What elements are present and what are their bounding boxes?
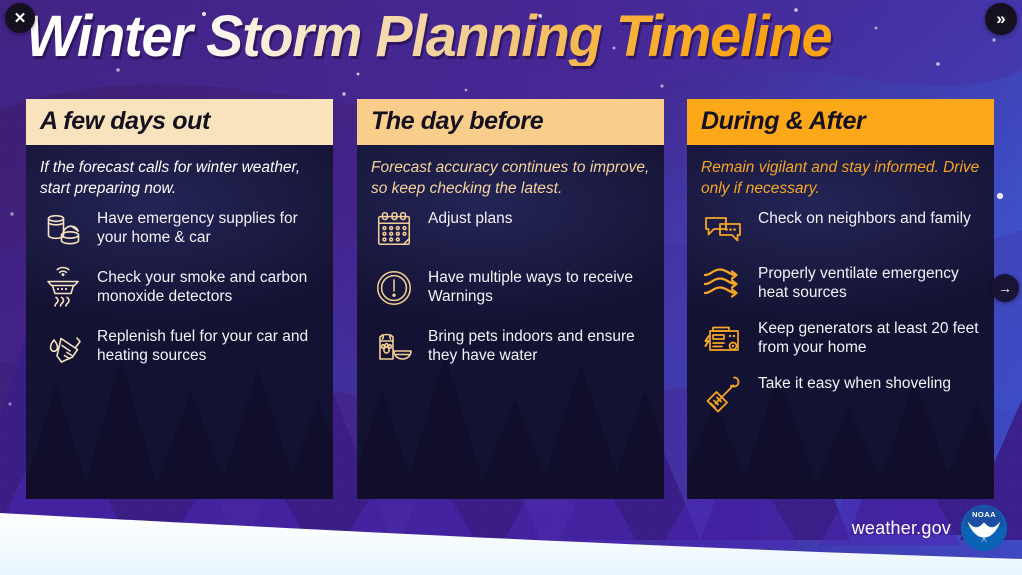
panel-items-0: Have emergency supplies for your home & …	[40, 206, 321, 370]
close-icon[interactable]: ✕	[5, 3, 35, 33]
expand-chevron-icon[interactable]: »	[985, 3, 1017, 35]
next-arrow-icon[interactable]: →	[991, 274, 1019, 302]
list-item: Properly ventilate emergency heat source…	[701, 261, 982, 307]
list-item-label: Properly ventilate emergency heat source…	[758, 261, 982, 302]
snow-shovel-icon	[701, 371, 747, 417]
weather-gov-link[interactable]: weather.gov	[852, 518, 951, 539]
list-item-label: Have emergency supplies for your home & …	[97, 206, 321, 247]
chat-bubbles-icon	[701, 206, 747, 252]
list-item: Adjust plans	[371, 206, 652, 252]
fuel-pump-icon	[40, 324, 86, 370]
panel-header-2: During & After	[687, 99, 994, 145]
list-item: Take it easy when shoveling	[701, 371, 982, 417]
list-item-label: Keep generators at least 20 feet from yo…	[758, 316, 982, 357]
panel-intro-0: If the forecast calls for winter weather…	[40, 158, 321, 200]
panel-body-2: Remain vigilant and stay informed. Drive…	[687, 145, 994, 499]
list-item-label: Bring pets indoors and ensure they have …	[428, 324, 652, 365]
noaa-logo: NOAA	[960, 504, 1008, 552]
list-item: Check your smoke and carbon monoxide det…	[40, 265, 321, 311]
list-item-label: Take it easy when shoveling	[758, 371, 951, 393]
ventilation-arrows-icon	[701, 261, 747, 307]
list-item-label: Check on neighbors and family	[758, 206, 971, 228]
canned-food-icon	[40, 206, 86, 252]
list-item: Replenish fuel for your car and heating …	[40, 324, 321, 370]
page-title: Winter Storm Planning Timeline	[26, 8, 831, 66]
list-item-label: Replenish fuel for your car and heating …	[97, 324, 321, 365]
list-item: Have emergency supplies for your home & …	[40, 206, 321, 252]
panel-body-1: Forecast accuracy continues to improve, …	[357, 145, 664, 499]
list-item-label: Check your smoke and carbon monoxide det…	[97, 265, 321, 306]
calendar-icon	[371, 206, 417, 252]
panel-intro-2: Remain vigilant and stay informed. Drive…	[701, 158, 982, 200]
list-item: Check on neighbors and family	[701, 206, 982, 252]
list-item: Bring pets indoors and ensure they have …	[371, 324, 652, 370]
svg-text:NOAA: NOAA	[972, 510, 996, 519]
panel-items-1: Adjust plans Have multiple ways to recei…	[371, 206, 652, 370]
pet-food-icon	[371, 324, 417, 370]
panel-items-2: Check on neighbors and family	[701, 206, 982, 417]
list-item: Keep generators at least 20 feet from yo…	[701, 316, 982, 362]
footer-branding: weather.gov NOAA	[852, 504, 1008, 552]
panel-body-0: If the forecast calls for winter weather…	[26, 145, 333, 499]
list-item-label: Have multiple ways to receive Warnings	[428, 265, 652, 306]
panel-a-few-days-out: A few days out If the forecast calls for…	[26, 99, 333, 499]
panel-header-1: The day before	[357, 99, 664, 145]
list-item-label: Adjust plans	[428, 206, 512, 228]
alert-exclamation-icon	[371, 265, 417, 311]
smoke-detector-icon	[40, 265, 86, 311]
panel-during-and-after: During & After Remain vigilant and stay …	[687, 99, 994, 499]
panel-header-0: A few days out	[26, 99, 333, 145]
list-item: Have multiple ways to receive Warnings	[371, 265, 652, 311]
timeline-panels: A few days out If the forecast calls for…	[0, 99, 1022, 499]
generator-icon	[701, 316, 747, 362]
panel-the-day-before: The day before Forecast accuracy continu…	[357, 99, 664, 499]
panel-intro-1: Forecast accuracy continues to improve, …	[371, 158, 652, 200]
